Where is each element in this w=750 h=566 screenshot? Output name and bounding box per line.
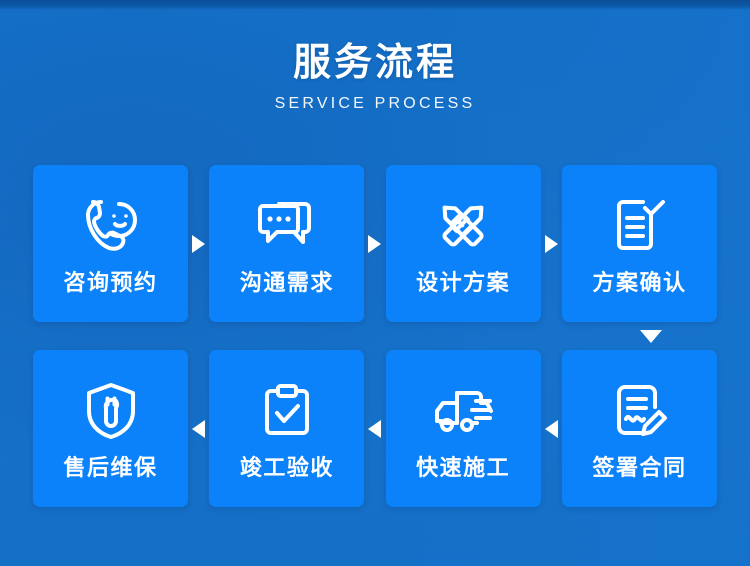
arrow-right-icon	[192, 235, 205, 253]
process-step-construction[interactable]: 快速施工	[386, 350, 541, 507]
arrow-left-icon	[192, 420, 205, 438]
arrow-left-icon	[545, 420, 558, 438]
document-check-icon	[607, 194, 671, 258]
process-step-sign-contract[interactable]: 签署合同	[562, 350, 717, 507]
background-top-shade	[0, 0, 750, 10]
process-step-label: 售后维保	[63, 457, 157, 479]
arrow-right-icon	[545, 235, 558, 253]
connector-6	[541, 350, 562, 507]
process-step-communication[interactable]: 沟通需求	[209, 165, 364, 322]
process-step-design[interactable]: 设计方案	[386, 165, 541, 322]
process-step-consultation[interactable]: 咨询预约	[33, 165, 188, 322]
phone-smile-icon	[79, 194, 143, 258]
process-step-label: 竣工验收	[240, 457, 334, 479]
chat-bubbles-icon	[255, 194, 319, 258]
process-step-label: 签署合同	[592, 457, 686, 479]
arrow-right-icon	[368, 235, 381, 253]
page-subtitle: SERVICE PROCESS	[0, 95, 750, 113]
contract-pen-icon	[607, 379, 671, 443]
connector-2	[364, 165, 385, 322]
page-title: 服务流程	[0, 42, 750, 86]
process-step-label: 设计方案	[416, 272, 510, 294]
connector-4	[188, 350, 209, 507]
delivery-truck-icon	[431, 379, 495, 443]
process-step-label: 方案确认	[592, 272, 686, 294]
connector-1	[188, 165, 209, 322]
process-step-after-sales[interactable]: 售后维保	[33, 350, 188, 507]
pencil-ruler-icon	[431, 194, 495, 258]
process-step-label: 咨询预约	[63, 272, 157, 294]
arrow-left-icon	[368, 420, 381, 438]
process-row-1: 咨询预约 沟通需求	[33, 165, 717, 322]
row-connector	[33, 322, 717, 350]
process-step-label: 快速施工	[416, 457, 510, 479]
section-header: 服务流程 SERVICE PROCESS	[0, 42, 750, 113]
shield-wrench-icon	[79, 379, 143, 443]
process-step-acceptance[interactable]: 竣工验收	[209, 350, 364, 507]
connector-5	[364, 350, 385, 507]
process-step-plan-confirm[interactable]: 方案确认	[562, 165, 717, 322]
connector-3	[541, 165, 562, 322]
clipboard-check-icon	[255, 379, 319, 443]
process-row-2: 售后维保 竣工验收	[33, 350, 717, 507]
arrow-down-icon	[640, 330, 662, 343]
process-step-label: 沟通需求	[240, 272, 334, 294]
